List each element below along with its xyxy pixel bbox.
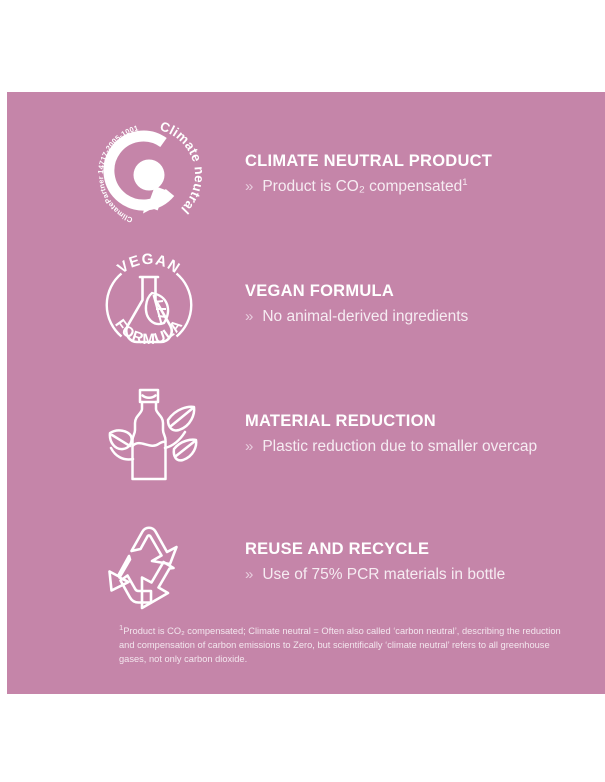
chevron-marker-icon: » — [245, 178, 253, 197]
feature-description: » Plastic reduction due to smaller overc… — [245, 437, 589, 457]
vegan-formula-flask-icon: VEGAN FORMULA — [85, 240, 213, 370]
feature-title: MATERIAL REDUCTION — [245, 412, 589, 432]
svg-text:VEGAN: VEGAN — [114, 251, 183, 277]
feature-text-climate-neutral: CLIMATE NEUTRAL PRODUCT » Product is CO₂… — [245, 152, 589, 197]
feature-title: REUSE AND RECYCLE — [245, 540, 589, 560]
feature-row-material-reduction: MATERIAL REDUCTION » Plastic reduction d… — [7, 370, 605, 500]
footnote-reference: 1 — [462, 177, 467, 188]
feature-text-material-reduction: MATERIAL REDUCTION » Plastic reduction d… — [245, 412, 589, 457]
feature-title: VEGAN FORMULA — [245, 282, 589, 302]
feature-description-text: Use of 75% PCR materials in bottle — [262, 565, 505, 584]
feature-row-climate-neutral: Climate neutral ClimatePartner 14717-200… — [7, 110, 605, 240]
feature-text-vegan-formula: VEGAN FORMULA » No animal-derived ingred… — [245, 282, 589, 327]
chevron-marker-icon: » — [245, 438, 253, 457]
footnote: 1Product is CO₂ compensated; Climate neu… — [119, 624, 574, 666]
sustainability-panel: Climate neutral ClimatePartner 14717-200… — [7, 92, 605, 694]
chevron-marker-icon: » — [245, 308, 253, 327]
feature-text-reuse-recycle: REUSE AND RECYCLE » Use of 75% PCR mater… — [245, 540, 589, 585]
feature-title: CLIMATE NEUTRAL PRODUCT — [245, 152, 589, 172]
feature-description-text: Product is CO₂ compensated — [262, 178, 462, 195]
feature-description: » Use of 75% PCR materials in bottle — [245, 565, 589, 585]
recycle-triangle-icon — [85, 500, 213, 630]
feature-row-vegan-formula: VEGAN FORMULA VEGAN FORMULA » No animal-… — [7, 240, 605, 370]
bottle-with-leaves-icon — [85, 370, 213, 500]
feature-description-text: Plastic reduction due to smaller overcap — [262, 437, 537, 456]
feature-description: » Product is CO₂ compensated1 — [245, 177, 589, 197]
chevron-marker-icon: » — [245, 566, 253, 585]
feature-row-reuse-recycle: REUSE AND RECYCLE » Use of 75% PCR mater… — [7, 500, 605, 630]
feature-description: » No animal-derived ingredients — [245, 307, 589, 327]
footnote-text: Product is CO₂ compensated; Climate neut… — [119, 626, 561, 664]
climate-neutral-badge-icon: Climate neutral ClimatePartner 14717-200… — [85, 110, 213, 240]
feature-description-text: No animal-derived ingredients — [262, 307, 468, 326]
